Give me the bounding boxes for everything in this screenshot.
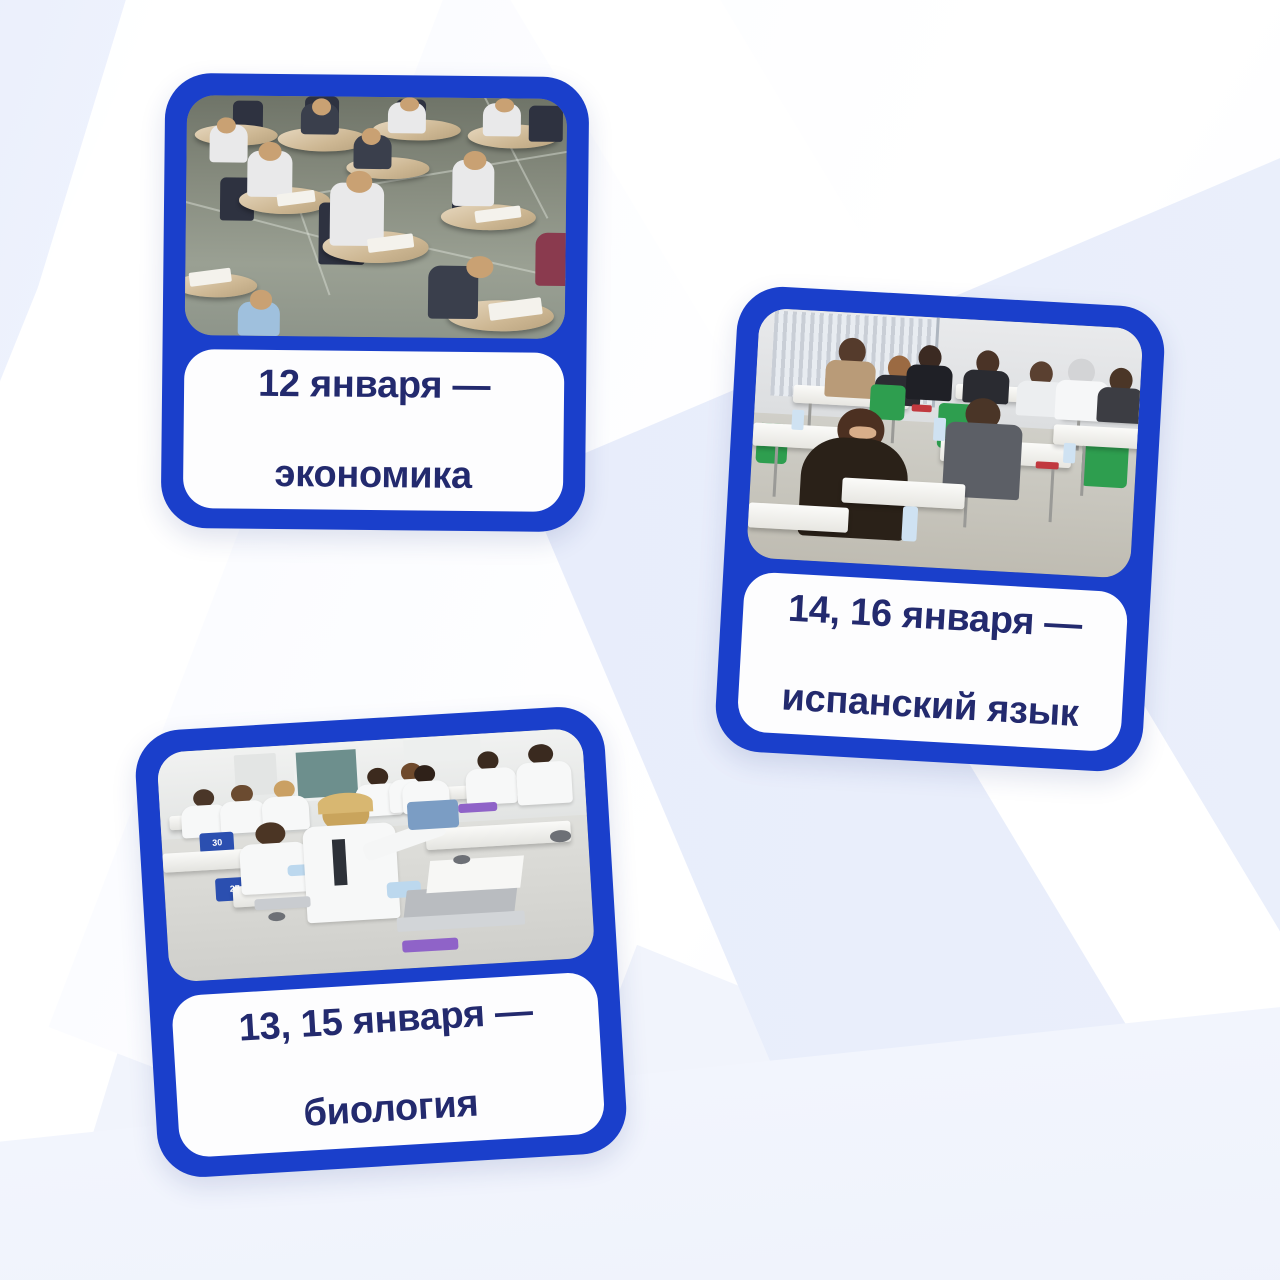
caption-text-spanish: 14, 16 января —испанский язык [780,586,1084,737]
biology-lab-photo: 30 27 [156,728,595,983]
caption-biology: 13, 15 января —биология [171,971,606,1158]
caption-text-economics: 12 января —экономика [257,362,490,499]
caption-text-biology: 13, 15 января —биология [237,989,539,1141]
caption-economics: 12 января —экономика [183,349,565,512]
classroom-photo [746,308,1143,579]
caption-spanish: 14, 16 января —испанский язык [736,571,1128,752]
schedule-card-spanish[interactable]: 14, 16 января —испанский язык [713,284,1166,773]
caption-line-1: 12 января — [258,362,491,409]
caption-line-2: экономика [257,452,490,499]
schedule-card-biology[interactable]: 30 27 [133,704,629,1179]
exam-hall-photo [185,95,567,339]
poster-canvas: 12 января —экономика [0,0,1280,1280]
caption-line-1: 13, 15 января — [237,989,533,1051]
schedule-card-economics[interactable]: 12 января —экономика [161,73,590,532]
caption-line-2: биология [243,1078,539,1140]
caption-line-2: испанский язык [780,676,1079,737]
caption-line-1: 14, 16 января — [785,586,1084,647]
